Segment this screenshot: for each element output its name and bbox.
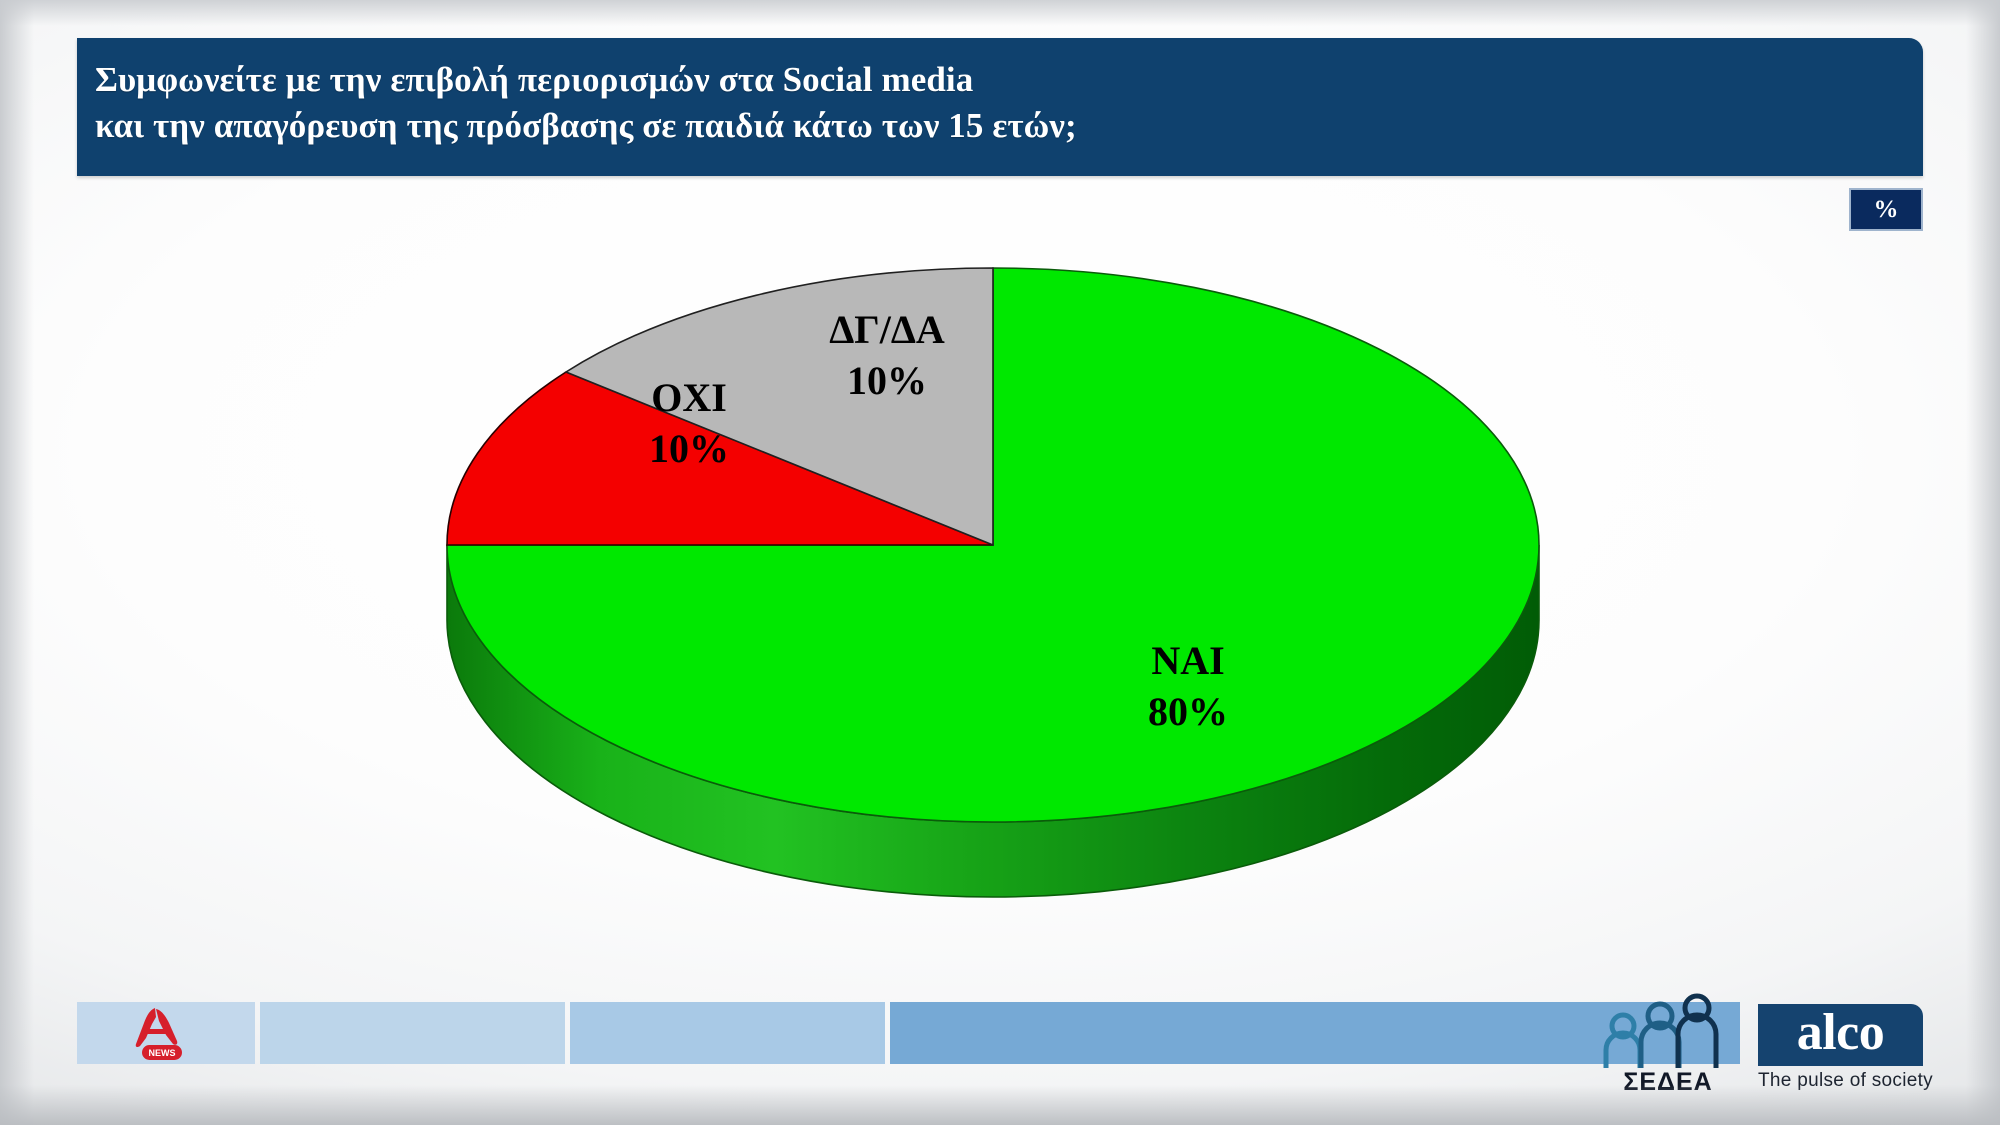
pie-label-dgda: ΔΓ/ΔΑ 10%: [829, 307, 945, 403]
pie-label-nai-name: ΝΑΙ: [1151, 638, 1224, 683]
pie-slice-dgda: [566, 268, 993, 545]
alpha-news-logo-icon: NEWS: [128, 1004, 204, 1062]
pie-slice-nai: [447, 268, 1539, 822]
alco-logo: alco: [1758, 1004, 1923, 1066]
percent-unit-label: %: [1874, 197, 1899, 222]
footer-block-3: [570, 1002, 885, 1064]
pie-label-dgda-value: 10%: [847, 358, 927, 403]
pie-slice-oxi: [447, 372, 993, 545]
sedea-label: ΣΕΔΕΑ: [1593, 1068, 1743, 1097]
footer-bar: NEWS ΣΕΔΕΑ alco The pulse of society: [0, 990, 2000, 1125]
alco-wordmark: alco: [1797, 1007, 1885, 1059]
pie-label-oxi-value: 10%: [649, 426, 729, 471]
svg-text:NEWS: NEWS: [149, 1048, 176, 1058]
title-bar: Συμφωνείτε με την επιβολή περιορισμών στ…: [77, 38, 1923, 176]
slide-canvas: Συμφωνείτε με την επιβολή περιορισμών στ…: [0, 0, 2000, 1125]
page-title: Συμφωνείτε με την επιβολή περιορισμών στ…: [95, 57, 1913, 148]
pie-label-nai-value: 80%: [1148, 689, 1228, 734]
pie-label-nai: ΝΑΙ 80%: [1148, 638, 1228, 734]
footer-block-2: [260, 1002, 565, 1064]
pie-label-oxi-name: ΟΧΙ: [651, 375, 727, 420]
pie-3d-side-wall: [447, 545, 1539, 897]
pie-label-dgda-name: ΔΓ/ΔΑ: [829, 307, 945, 352]
alco-tagline: The pulse of society: [1758, 1070, 1933, 1092]
percent-unit-badge: %: [1849, 188, 1923, 231]
pie-label-oxi: ΟΧΙ 10%: [649, 375, 729, 471]
